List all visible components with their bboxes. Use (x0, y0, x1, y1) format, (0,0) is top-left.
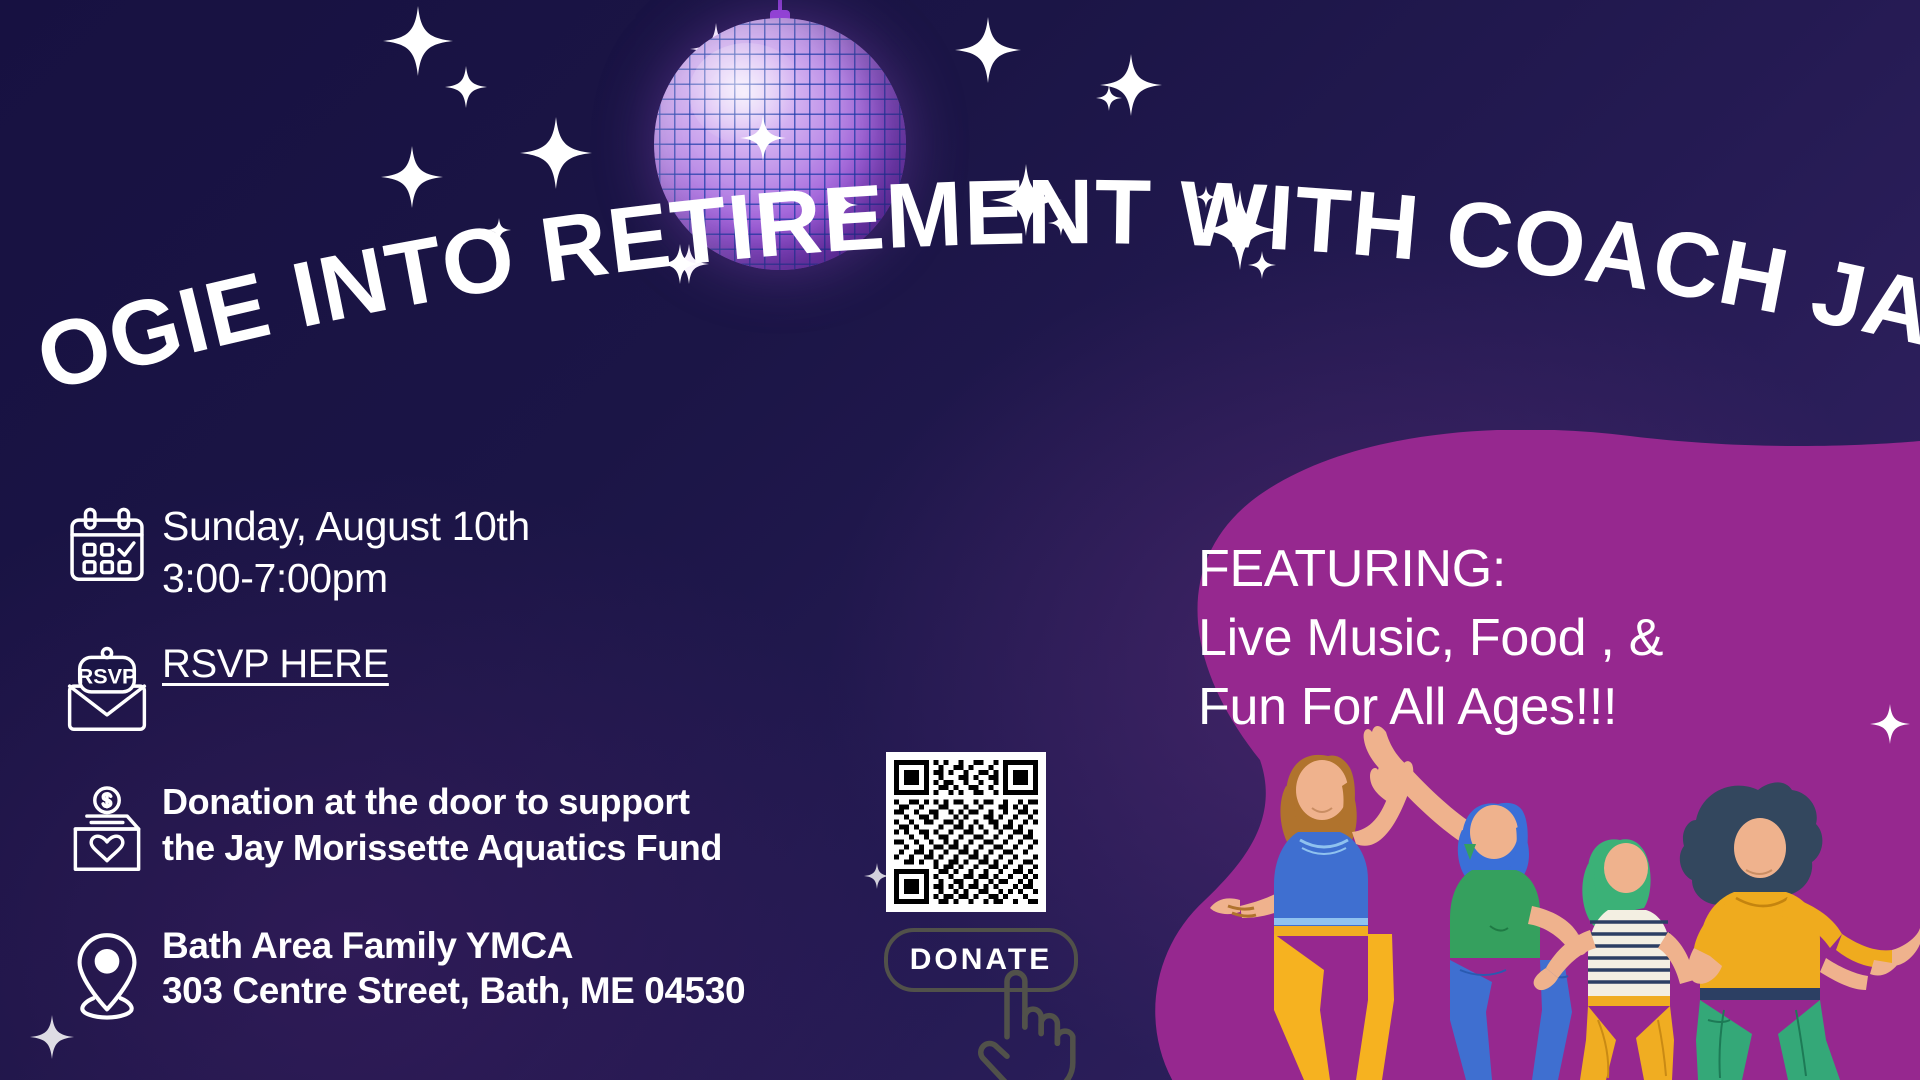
event-details-list: Sunday, August 10th 3:00-7:00pm RSVP RSV… (52, 500, 932, 1049)
sparkle-icon (1096, 82, 1122, 114)
venue-address: 303 Centre Street, Bath, ME 04530 (162, 968, 745, 1013)
qr-code-icon[interactable] (886, 752, 1046, 912)
detail-row-donation: Donation at the door to support the Jay … (52, 779, 932, 875)
dancer-2 (1364, 726, 1587, 1080)
dancer-4 (1680, 782, 1920, 1080)
venue-name: Bath Area Family YMCA (162, 923, 745, 968)
dancer-1 (1210, 755, 1413, 1080)
qr-code-svg (894, 760, 1038, 904)
featuring-block: FEATURING: Live Music, Food , & Fun For … (1198, 535, 1898, 742)
featuring-line-1: Live Music, Food , & (1198, 604, 1898, 673)
sparkle-icon (955, 10, 1021, 90)
detail-row-location: Bath Area Family YMCA 303 Centre Street,… (52, 923, 932, 1023)
donation-line-2: the Jay Morissette Aquatics Fund (162, 825, 722, 871)
map-pin-icon (52, 923, 162, 1023)
event-poster: BOOGIE INTO RETIREMENT WITH COACH JAY! (0, 0, 1920, 1080)
svg-text:BOOGIE INTO RETIREMENT WITH CO: BOOGIE INTO RETIREMENT WITH COACH JAY! (0, 58, 1920, 411)
calendar-icon (52, 500, 162, 590)
date-line: Sunday, August 10th (162, 500, 530, 552)
dancing-people-illustration (1180, 720, 1920, 1080)
rsvp-envelope-icon: RSVP (52, 639, 162, 735)
sparkle-icon (383, 0, 453, 82)
sparkle-icon (1100, 48, 1162, 122)
page-title-text: BOOGIE INTO RETIREMENT WITH COACH JAY! (0, 58, 1920, 411)
detail-row-date: Sunday, August 10th 3:00-7:00pm (52, 500, 932, 605)
rsvp-link[interactable]: RSVP HERE (162, 639, 389, 690)
donation-box-icon (52, 779, 162, 875)
svg-text:RSVP: RSVP (78, 663, 137, 688)
page-title: BOOGIE INTO RETIREMENT WITH COACH JAY! (0, 140, 1920, 430)
featuring-heading: FEATURING: (1198, 535, 1898, 604)
time-line: 3:00-7:00pm (162, 552, 530, 604)
sparkle-icon (445, 62, 487, 112)
donation-line-1: Donation at the door to support (162, 779, 722, 825)
detail-row-rsvp[interactable]: RSVP RSVP HERE (52, 639, 932, 735)
